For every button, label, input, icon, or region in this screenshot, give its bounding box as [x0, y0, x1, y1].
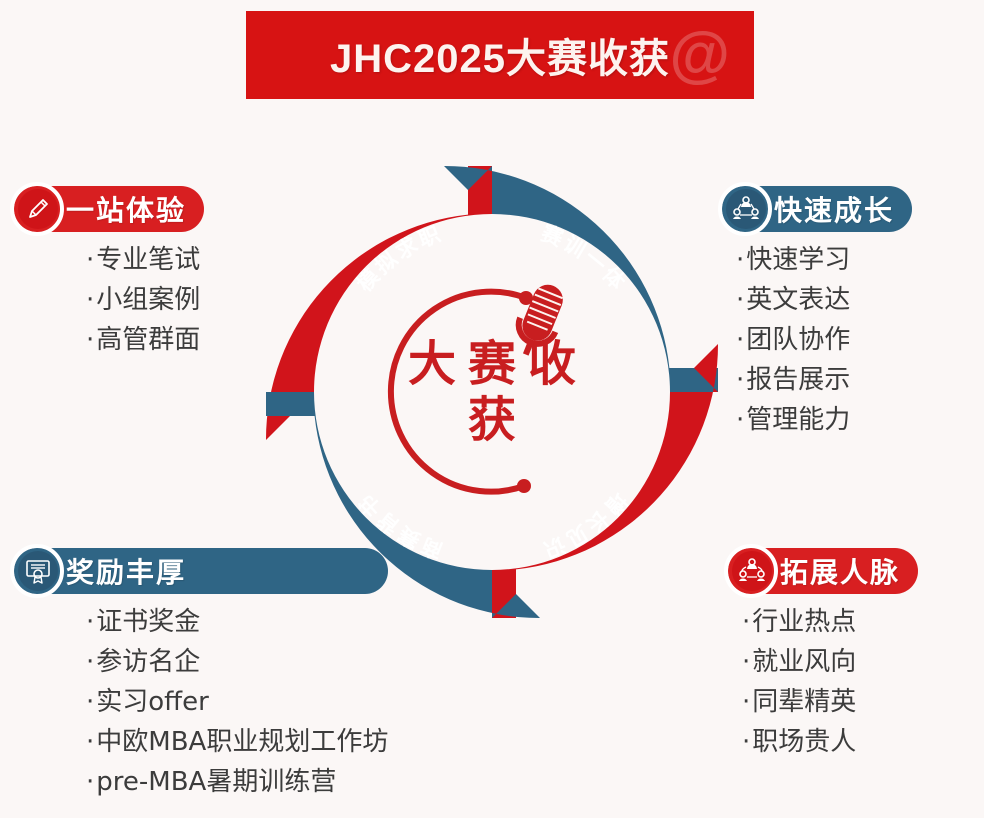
bullet-dot: ·	[86, 285, 94, 315]
bullet-dot: ·	[86, 767, 94, 797]
badge-title-expand-network: 拓展人脉	[780, 551, 900, 591]
badge-title-rich-rewards: 奖励丰厚	[66, 551, 186, 591]
team-network-icon	[726, 189, 766, 229]
block-one-stop-experience: 一站体验 ·专业笔试 ·小组案例 ·高管群面	[14, 186, 204, 360]
list-item-label: 就业风向	[752, 647, 856, 677]
badge-title-rapid-growth: 快速成长	[774, 189, 894, 229]
list-item: ·专业笔试	[86, 240, 204, 280]
list-item-label: 参访名企	[96, 647, 200, 677]
list-item: ·报告展示	[736, 360, 912, 400]
center-char-2: 赛	[462, 336, 522, 392]
list-item-label: 英文表达	[746, 285, 850, 315]
bullet-dot: ·	[86, 245, 94, 275]
badge-rich-rewards[interactable]: 奖励丰厚	[14, 548, 388, 594]
page-title: JHC2025大赛收获	[330, 26, 670, 84]
item-list-expand-network: ·行业热点 ·就业风向 ·同辈精英 ·职场贵人	[742, 602, 918, 762]
list-item: ·中欧MBA职业规划工作坊	[86, 722, 388, 762]
list-item: ·团队协作	[736, 320, 912, 360]
list-item: ·行业热点	[742, 602, 918, 642]
list-item-label: 证书奖金	[96, 607, 200, 637]
list-item-label: 报告展示	[746, 365, 850, 395]
list-item: ·参访名企	[86, 642, 388, 682]
list-item: ·同辈精英	[742, 682, 918, 722]
list-item: ·小组案例	[86, 280, 204, 320]
bullet-dot: ·	[86, 647, 94, 677]
bullet-dot: ·	[736, 405, 744, 435]
list-item: ·职场贵人	[742, 722, 918, 762]
list-item-label: 行业热点	[752, 607, 856, 637]
bullet-dot: ·	[86, 687, 94, 717]
list-item-label: 快速学习	[746, 245, 850, 275]
watermark-at-icon: @	[670, 24, 730, 86]
center-char-3: 收	[522, 336, 582, 392]
bullet-dot: ·	[736, 285, 744, 315]
bullet-dot: ·	[86, 727, 94, 757]
list-item-label: 职场贵人	[752, 727, 856, 757]
bullet-dot: ·	[86, 325, 94, 355]
list-item-label: 同辈精英	[752, 687, 856, 717]
item-list-one-stop-experience: ·专业笔试 ·小组案例 ·高管群面	[86, 240, 204, 360]
list-item-label: 小组案例	[96, 285, 200, 315]
item-list-rich-rewards: ·证书奖金 ·参访名企 ·实习offer ·中欧MBA职业规划工作坊 ·pre-…	[86, 602, 388, 802]
list-item: ·就业风向	[742, 642, 918, 682]
center-text-grid: 大 赛 收 获	[376, 276, 608, 508]
banner-zigzag-right-edge	[747, 11, 754, 99]
bullet-dot: ·	[736, 325, 744, 355]
center-char-4: 获	[462, 392, 522, 448]
block-expand-network: 拓展人脉 ·行业热点 ·就业风向 ·同辈精英 ·职场贵人	[728, 548, 918, 762]
badge-expand-network[interactable]: 拓展人脉	[728, 548, 918, 594]
list-item-label: 中欧MBA职业规划工作坊	[96, 727, 388, 757]
bullet-dot: ·	[736, 245, 744, 275]
people-network-icon	[732, 551, 772, 591]
banner-zigzag-left-edge	[246, 11, 253, 99]
bullet-dot: ·	[86, 607, 94, 637]
bullet-dot: ·	[736, 365, 744, 395]
badge-one-stop-experience[interactable]: 一站体验	[14, 186, 204, 232]
list-item-label: 团队协作	[746, 325, 850, 355]
list-item-label: 高管群面	[96, 325, 200, 355]
list-item: ·实习offer	[86, 682, 388, 722]
list-item: ·英文表达	[736, 280, 912, 320]
pencil-icon	[18, 189, 58, 229]
badge-title-one-stop-experience: 一站体验	[66, 189, 186, 229]
title-banner-wrap: @ JHC2025大赛收获	[240, 11, 760, 99]
item-list-rapid-growth: ·快速学习 ·英文表达 ·团队协作 ·报告展示 ·管理能力	[736, 240, 912, 440]
list-item-label: 管理能力	[746, 405, 850, 435]
list-item: ·快速学习	[736, 240, 912, 280]
bullet-dot: ·	[742, 687, 750, 717]
list-item: ·管理能力	[736, 400, 912, 440]
badge-rapid-growth[interactable]: 快速成长	[722, 186, 912, 232]
block-rapid-growth: 快速成长 ·快速学习 ·英文表达 ·团队协作 ·报告展示 ·管理能力	[722, 186, 912, 440]
bullet-dot: ·	[742, 607, 750, 637]
list-item: ·证书奖金	[86, 602, 388, 642]
bullet-dot: ·	[742, 647, 750, 677]
block-rich-rewards: 奖励丰厚 ·证书奖金 ·参访名企 ·实习offer ·中欧MBA职业规划工作坊 …	[14, 548, 388, 802]
center-emblem: 大 赛 收 获	[376, 276, 608, 508]
list-item: ·高管群面	[86, 320, 204, 360]
list-item: ·pre-MBA暑期训练营	[86, 762, 388, 802]
title-banner: @ JHC2025大赛收获	[246, 11, 754, 99]
bullet-dot: ·	[742, 727, 750, 757]
list-item-label: pre-MBA暑期训练营	[96, 767, 336, 797]
certificate-icon	[18, 551, 58, 591]
center-char-1: 大	[402, 336, 462, 392]
list-item-label: 专业笔试	[96, 245, 200, 275]
list-item-label: 实习offer	[96, 687, 209, 717]
